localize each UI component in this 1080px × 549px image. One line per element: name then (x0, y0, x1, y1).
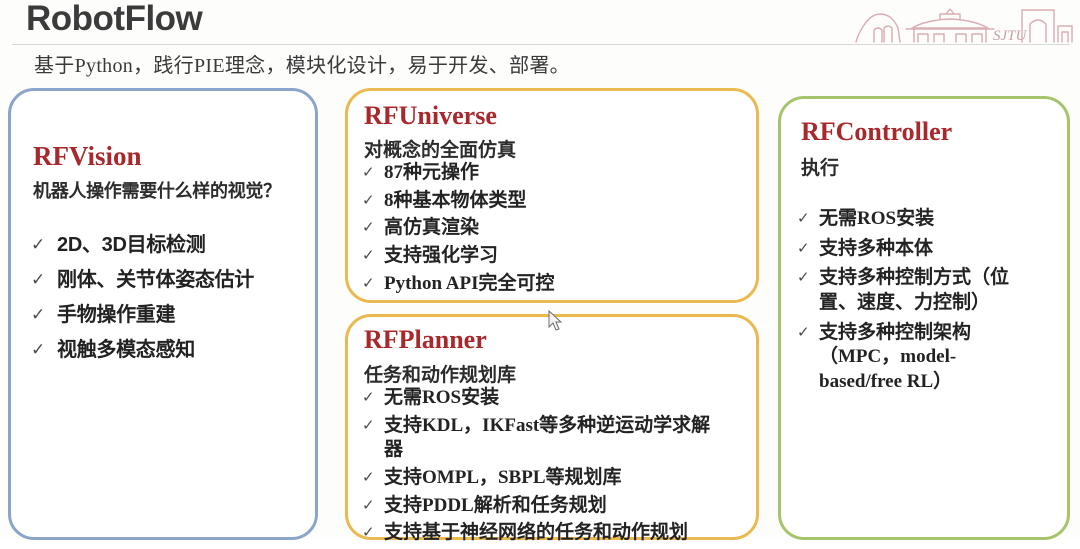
list-item: ✓ 支持强化学习 (362, 244, 752, 269)
check-icon: ✓ (797, 237, 819, 259)
list-item: ✓ 支持OMPL，SBPL等规划库 (362, 466, 754, 491)
list-item: ✓ 支持多种控制架构 （MPC，model- based/free RL） (797, 321, 1065, 395)
check-icon: ✓ (362, 466, 384, 488)
list-item-label: 支持多种本体 (819, 237, 933, 262)
rfplanner-subheading: 任务和动作规划库 (364, 360, 516, 387)
check-icon: ✓ (31, 234, 57, 256)
list-item: ✓ 无需ROS安装 (797, 207, 1065, 232)
rfvision-subheading: 机器人操作需要什么样的视觉？ (33, 177, 281, 203)
check-icon: ✓ (797, 321, 819, 343)
check-icon: ✓ (362, 494, 384, 516)
list-item: ✓ 支持多种本体 (797, 237, 1065, 262)
list-item: ✓ 无需ROS安装 (362, 386, 754, 411)
list-item: ✓ 手物操作重建 (31, 304, 311, 327)
list-item-label: 支持强化学习 (384, 244, 498, 269)
list-item: ✓ 视触多模态感知 (31, 339, 311, 362)
card-rfvision: RFVision 机器人操作需要什么样的视觉？ ✓ 2D、3D目标检测 ✓ 刚体… (8, 88, 318, 540)
list-item: ✓ 支持PDDL解析和任务规划 (362, 494, 754, 519)
list-item-label: 支持基于神经网络的任务和动作规划 (384, 521, 688, 546)
check-icon: ✓ (362, 216, 384, 238)
list-item-label: 手物操作重建 (57, 304, 175, 327)
list-item: ✓ 2D、3D目标检测 (31, 234, 311, 257)
list-item: ✓ 87种元操作 (362, 161, 752, 186)
rfcontroller-heading: RFController (801, 117, 952, 147)
check-icon: ✓ (31, 269, 57, 291)
sjtu-logo: SJTU (854, 2, 1076, 46)
sjtu-logo-text: SJTU (993, 28, 1028, 44)
card-rfcontroller: RFController 执行 ✓ 无需ROS安装 ✓ 支持多种本体 ✓ 支持多… (778, 96, 1070, 540)
rfuniverse-heading: RFUniverse (364, 101, 497, 131)
list-item: ✓ 支持多种控制方式（位 置、速度、力控制） (797, 266, 1065, 315)
slide-header: RobotFlow (0, 0, 1080, 45)
check-icon: ✓ (31, 304, 57, 326)
page-title: RobotFlow (26, 0, 202, 39)
check-icon: ✓ (362, 521, 384, 543)
card-rfplanner: RFPlanner 任务和动作规划库 ✓ 无需ROS安装 ✓ 支持KDL，IKF… (345, 314, 759, 540)
list-item-label: 87种元操作 (384, 161, 479, 186)
check-icon: ✓ (31, 339, 57, 361)
check-icon: ✓ (362, 161, 384, 183)
list-item: ✓ 8种基本物体类型 (362, 189, 752, 214)
list-item-label: 刚体、关节体姿态估计 (57, 269, 254, 292)
list-item-label: 8种基本物体类型 (384, 189, 527, 214)
rfcontroller-subheading: 执行 (801, 153, 839, 180)
check-icon: ✓ (362, 386, 384, 408)
list-item-label: 支持PDDL解析和任务规划 (384, 494, 607, 519)
check-icon: ✓ (362, 244, 384, 266)
header-divider (12, 44, 1070, 45)
check-icon: ✓ (797, 207, 819, 229)
list-item-label: 支持多种控制方式（位 置、速度、力控制） (819, 266, 1009, 315)
check-icon: ✓ (362, 189, 384, 211)
list-item-label: 支持多种控制架构 （MPC，model- based/free RL） (819, 321, 971, 395)
rfplanner-heading: RFPlanner (364, 325, 487, 355)
list-item: ✓ 高仿真渲染 (362, 216, 752, 241)
list-item-label: 支持OMPL，SBPL等规划库 (384, 466, 622, 491)
check-icon: ✓ (797, 266, 819, 288)
list-item: ✓ 支持KDL，IKFast等多种逆运动学求解 器 (362, 414, 754, 463)
check-icon: ✓ (362, 272, 384, 294)
rfuniverse-bullet-list: ✓ 87种元操作 ✓ 8种基本物体类型 ✓ 高仿真渲染 ✓ 支持强化学习 ✓ P… (362, 161, 752, 299)
list-item-label: 高仿真渲染 (384, 216, 479, 241)
rfvision-heading: RFVision (33, 141, 142, 172)
list-item-label: 2D、3D目标检测 (57, 234, 205, 257)
list-item: ✓ Python API完全可控 (362, 272, 752, 297)
rfplanner-bullet-list: ✓ 无需ROS安装 ✓ 支持KDL，IKFast等多种逆运动学求解 器 ✓ 支持… (362, 386, 754, 549)
list-item-label: 视触多模态感知 (57, 339, 195, 362)
list-item-label: 无需ROS安装 (819, 207, 934, 232)
list-item: ✓ 支持基于神经网络的任务和动作规划 (362, 521, 754, 546)
card-rfuniverse: RFUniverse 对概念的全面仿真 ✓ 87种元操作 ✓ 8种基本物体类型 … (345, 88, 759, 303)
rfuniverse-subheading: 对概念的全面仿真 (364, 135, 516, 162)
list-item-label: 支持KDL，IKFast等多种逆运动学求解 器 (384, 414, 710, 463)
slide-subtitle: 基于Python，践行PIE理念，模块化设计，易于开发、部署。 (34, 49, 570, 78)
rfvision-bullet-list: ✓ 2D、3D目标检测 ✓ 刚体、关节体姿态估计 ✓ 手物操作重建 ✓ 视触多模… (31, 234, 311, 374)
list-item-label: Python API完全可控 (384, 272, 555, 297)
list-item: ✓ 刚体、关节体姿态估计 (31, 269, 311, 292)
list-item-label: 无需ROS安装 (384, 386, 499, 411)
rfcontroller-bullet-list: ✓ 无需ROS安装 ✓ 支持多种本体 ✓ 支持多种控制方式（位 置、速度、力控制… (797, 207, 1065, 400)
check-icon: ✓ (362, 414, 384, 436)
